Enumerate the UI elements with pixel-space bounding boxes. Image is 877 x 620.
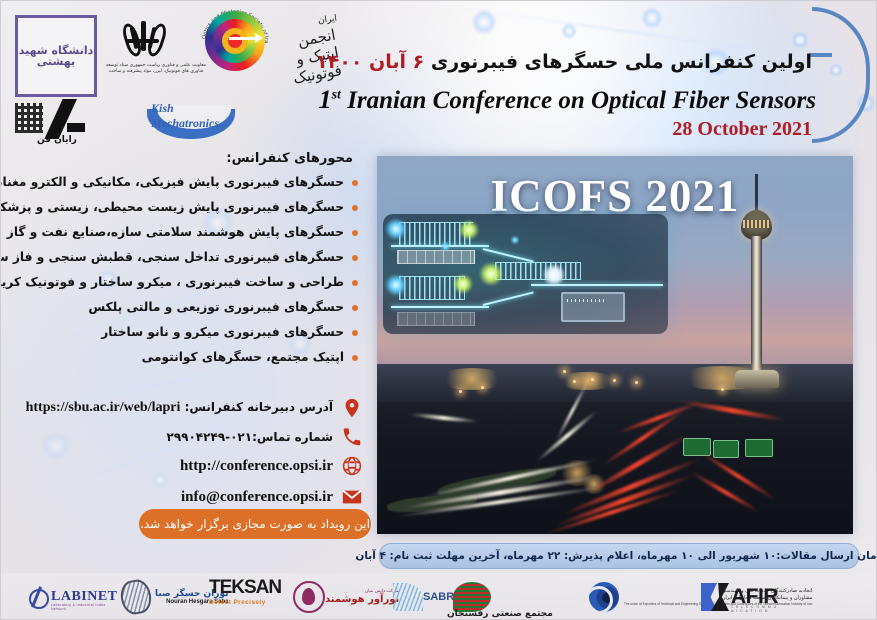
street-lamp (721, 388, 724, 391)
sponsor-logos-footer: LABINET Laboratory & Industrial Index Ne… (1, 573, 877, 620)
street-lamp (613, 379, 616, 382)
logo-opsi (205, 11, 265, 71)
glow-point (459, 220, 479, 240)
title-fa-text: اولین کنفرانس ملی حسگرهای فیبرنوری (431, 51, 812, 73)
title-ordinal-suffix: st (332, 88, 341, 103)
caliper-instrument-graphic (561, 292, 625, 322)
conference-date-english: 28 October 2021 (672, 118, 812, 141)
deadline-banner: زمان ارسال مقالات:۱۰ شهریور الی ۱۰ مهرما… (379, 543, 859, 569)
glow-point (385, 218, 407, 240)
iran-emblem-caption: معاونت علمی و فناوری ریاست جمهوری ستاد ت… (101, 63, 211, 75)
city-light-glow (437, 368, 507, 390)
contact-address: آدرس دبیرخانه کنفرانس: https://sbu.ac.ir… (26, 400, 333, 416)
phone-icon (341, 426, 363, 448)
contact-row-phone: شماره تماس:۰۲۱-۲۹۹۰۴۲۴۹ (1, 426, 373, 448)
topic-label: طراحی و ساخت فیبرنوری ، میکرو ساختار و ف… (0, 275, 344, 290)
topic-label: حسگرهای فیبرنوری میکرو و نانو ساختار (101, 325, 344, 340)
logo-shahid-beheshti-university: دانشگاه شهید بهشتی (15, 15, 97, 97)
highway-sign (713, 440, 739, 458)
nooravar-name: نورآور هوشمند (325, 594, 399, 605)
address-label: آدرس دبیرخانه کنفرانس: (185, 400, 333, 414)
chip-sensor-grating (495, 262, 581, 280)
contact-email[interactable]: info@conference.opsi.ir (181, 489, 333, 506)
logo-kish-mechatronics: Kish Mechatronics (145, 93, 237, 143)
emblem-crossbar (127, 39, 159, 43)
deadline-text: زمان ارسال مقالات:۱۰ شهریور الی ۱۰ مهرما… (355, 550, 877, 562)
topic-item: اپتیک مجتمع، حسگرهای کوانتومی (1, 350, 373, 365)
red-light-trail (689, 470, 760, 513)
glow-point (385, 274, 407, 296)
topic-label: حسگرهای فیبرنوری پایش زیست محیطی، زیستی … (0, 200, 344, 215)
contact-website[interactable]: http://conference.opsi.ir (180, 458, 333, 475)
envelope-icon (341, 486, 363, 508)
safir-subtitle: T E L E C O M M U N I C A T I O N (731, 605, 778, 613)
topic-label: حسگرهای فیبرنوری تداخل سنجی، قطبش سنجی و… (0, 250, 344, 265)
safir-mark-icon (701, 583, 731, 611)
contact-phone: شماره تماس:۰۲۱-۲۹۹۰۴۲۴۹ (167, 430, 334, 444)
bullet-icon (352, 255, 358, 261)
topics-heading: محورهای کنفرانس: (1, 151, 373, 166)
rafsanjan-caption: مجتمع صنعتی رفسنجان (447, 609, 553, 619)
nooravar-text-block: شرکت دانش بنیان نورآور هوشمند (325, 589, 399, 605)
bullet-icon (352, 330, 358, 336)
labinet-mark-icon (29, 586, 51, 608)
topic-item: حسگرهای فیبرنوری میکرو و نانو ساختار (1, 325, 373, 340)
location-pin-icon (341, 397, 363, 419)
bullet-icon (352, 280, 358, 286)
highway-sign (683, 438, 711, 456)
decorative-bracket-tail (810, 53, 832, 57)
topic-label: حسگرهای فیبرنوری توزیعی و مالتی پلکس (88, 300, 344, 315)
waveguide-curve-bottom (483, 291, 534, 306)
contact-row-address: آدرس دبیرخانه کنفرانس: https://sbu.ac.ir… (1, 397, 373, 419)
nooravar-mark-icon (293, 581, 325, 613)
topic-item: طراحی و ساخت فیبرنوری ، میکرو ساختار و ف… (1, 275, 373, 290)
red-light-trail (699, 450, 777, 501)
topic-item: حسگرهای فیبرنوری توزیعی و مالتی پلکس (1, 300, 373, 315)
rayan-caption: رایان فن (37, 135, 77, 145)
title-fa-date: ۶ آبان ۱۴۰۰ (316, 51, 424, 73)
glow-point (441, 242, 450, 251)
calligraphy-line-1: ایران (317, 14, 337, 27)
virtual-event-text: این رویداد به صورت مجازی برگزار خواهد شد… (140, 517, 370, 531)
conference-title-persian: اولین کنفرانس ملی حسگرهای فیبرنوری ۶ آبا… (316, 51, 812, 73)
ettehadieh-mark-icon (589, 582, 619, 612)
hero-image: ICOFS 2021 (377, 156, 853, 534)
bullet-icon (352, 230, 358, 236)
phone-label: شماره تماس: (252, 430, 333, 444)
highway-sign (745, 439, 773, 457)
sbu-logo-text: دانشگاه شهید بهشتی (18, 45, 94, 67)
kish-logo-text: Kish Mechatronics (151, 101, 237, 131)
topic-label: حسگرهای پایش هوشمند سلامتی سازه،صنایع نف… (7, 225, 344, 240)
street-lamp (563, 370, 566, 373)
topic-item: حسگرهای فیبرنوری پایش زیست محیطی، زیستی … (1, 200, 373, 215)
teksan-tagline: Detect Precisely (209, 599, 266, 606)
address-url[interactable]: https://sbu.ac.ir/web/lapri (26, 400, 181, 416)
logo-labinet: LABINET Laboratory & Industrial Index Ne… (29, 577, 118, 617)
tower-base (735, 370, 779, 388)
bullet-icon (352, 180, 358, 186)
virtual-event-notice: این رویداد به صورت مجازی برگزار خواهد شد… (139, 509, 371, 539)
logo-iran-emblem (125, 19, 181, 69)
contact-row-email: info@conference.opsi.ir (1, 486, 373, 508)
street-lamp (573, 380, 576, 383)
rafsanjan-mark-icon (453, 582, 491, 612)
topic-item: حسگرهای پایش هوشمند سلامتی سازه،صنایع نف… (1, 225, 373, 240)
rayan-pattern-mark (15, 103, 43, 133)
poster-header: دانشگاه شهید بهشتی رایان فن معاونت علمی … (1, 1, 877, 149)
decorative-bracket (812, 7, 870, 143)
white-light-trail (409, 412, 479, 423)
sabri-rays-icon (393, 583, 423, 611)
opsi-arrow-head-icon (255, 33, 263, 43)
street-lamp (635, 381, 638, 384)
topic-label: اپتیک مجتمع، حسگرهای کوانتومی (142, 350, 344, 365)
tower-shaft (751, 236, 762, 376)
title-en-text: Iranian Conference on Optical Fiber Sens… (347, 87, 816, 114)
waveguide-bottom (391, 306, 489, 308)
logo-nooravar-hooshmand: شرکت دانش بنیان نورآور هوشمند (293, 577, 403, 617)
glow-point (453, 274, 473, 294)
red-light-trail (677, 398, 786, 422)
chip-slab-top (397, 250, 475, 264)
title-ordinal: 1 (319, 85, 332, 114)
bullet-icon (352, 305, 358, 311)
conference-poster: دانشگاه شهید بهشتی رایان فن معاونت علمی … (0, 0, 877, 620)
photonic-chip-graphic (383, 214, 668, 334)
rayan-slash-mark (43, 99, 77, 139)
chip-slab-bottom (397, 312, 475, 326)
logo-teksan: TEKSAN Detect Precisely (209, 577, 281, 617)
bullet-icon (352, 355, 358, 361)
logo-safir: AFIR T E L E C O M M U N I C A T I O N (701, 577, 778, 617)
street-lamp (591, 378, 594, 381)
waveguide-top (391, 245, 489, 247)
emblem-center-blade (141, 21, 146, 51)
conference-topics-section: محورهای کنفرانس: حسگرهای فیبرنوری پایش ف… (1, 151, 373, 375)
logo-rayan-fan: رایان فن (15, 101, 111, 145)
topic-label: حسگرهای فیبرنوری پایش فیزیکی، مکانیکی و … (0, 175, 344, 190)
logo-rafsanjan-industrial-complex: مجتمع صنعتی رفسنجان (453, 577, 491, 617)
contact-row-website: http://conference.opsi.ir (1, 455, 373, 477)
conference-title-english: 1st Iranian Conference on Optical Fiber … (319, 85, 816, 115)
street-lamp (459, 390, 462, 393)
globe-icon (341, 455, 363, 477)
topic-item: حسگرهای فیبرنوری پایش فیزیکی، مکانیکی و … (1, 175, 373, 190)
waveguide-curve-top (483, 248, 534, 263)
street-lamp (481, 386, 484, 389)
glow-point (479, 262, 503, 286)
topic-item: حسگرهای فیبرنوری تداخل سنجی، قطبش سنجی و… (1, 250, 373, 265)
contact-section: آدرس دبیرخانه کنفرانس: https://sbu.ac.ir… (1, 397, 373, 515)
rayan-bar-mark (67, 123, 85, 132)
glow-point (543, 264, 565, 286)
labinet-subtitle: Laboratory & Industrial Index Network (51, 603, 118, 611)
nouran-fiber-icon (118, 578, 153, 617)
phone-value: ۰۲۱-۲۹۹۰۴۲۴۹ (167, 430, 253, 444)
glow-point (511, 236, 519, 244)
tehran-highway-night-photo (377, 364, 853, 534)
bullet-icon (352, 205, 358, 211)
teksan-name: TEKSAN (209, 577, 281, 599)
